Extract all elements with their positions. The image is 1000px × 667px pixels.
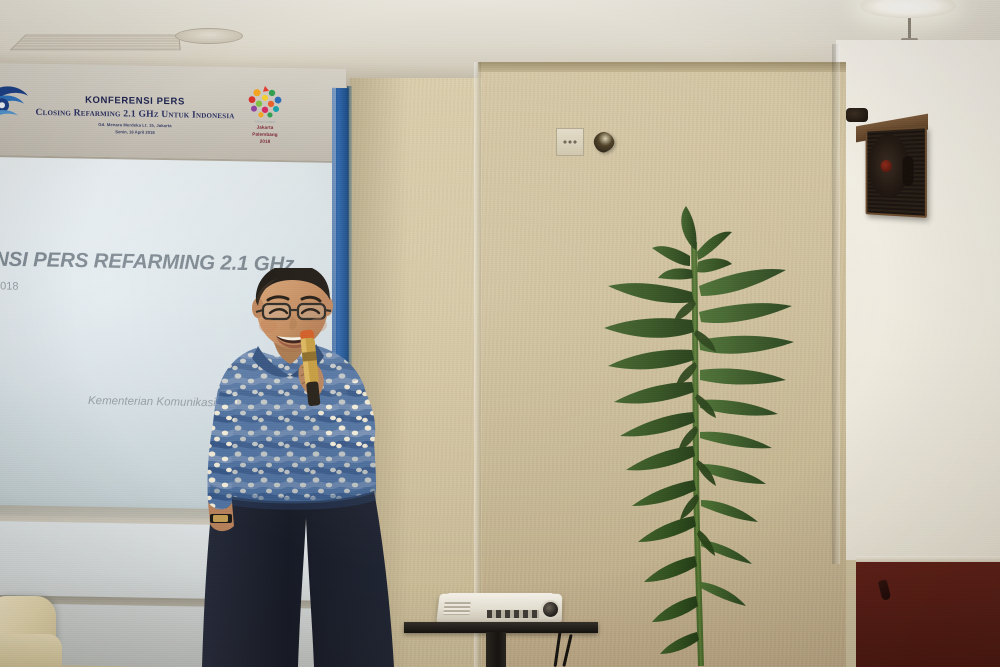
asian-games-city2: Palembang	[238, 132, 292, 139]
downlight-off-icon	[175, 28, 243, 44]
kominfo-logo-icon	[0, 81, 38, 128]
wainscot-panel	[856, 562, 1000, 667]
wall-outlet-plate	[556, 128, 584, 156]
asian-games-year: 2018	[238, 139, 292, 146]
speaker-presenter	[180, 268, 410, 667]
ceiling-hook-icon	[908, 18, 911, 42]
wall-top-trim	[478, 62, 846, 72]
banner-date: Senin, 16 April 2018	[52, 128, 218, 136]
wall-corner-left	[474, 62, 481, 667]
projector-lens-icon	[541, 600, 560, 619]
ac-vent-icon	[10, 35, 181, 51]
potted-plant	[560, 200, 840, 667]
speaker-mount-top	[846, 108, 868, 122]
projector-table-leg	[486, 632, 506, 667]
banner-title: KONFERENSI PERS	[40, 94, 230, 108]
projector-vent	[443, 602, 470, 615]
photo-scene: RENSI PERS REFARMING 2.1 GHz 2018 Kement…	[0, 0, 1000, 667]
banner: KONFERENSI PERS Closing Refarming 2.1 GH…	[0, 73, 320, 155]
asian-games-emblem-icon	[245, 83, 285, 120]
banner-subtitle: Closing Refarming 2.1 GHz Untuk Indonesi…	[26, 107, 244, 122]
projector-ports	[487, 610, 539, 618]
asian-games-logo: ASIAN GAMES Jakarta Palembang 2018	[238, 83, 292, 142]
asian-games-city1: Jakarta	[238, 124, 292, 131]
lounge-chair-arm	[0, 634, 62, 667]
speaker-port	[902, 156, 913, 186]
